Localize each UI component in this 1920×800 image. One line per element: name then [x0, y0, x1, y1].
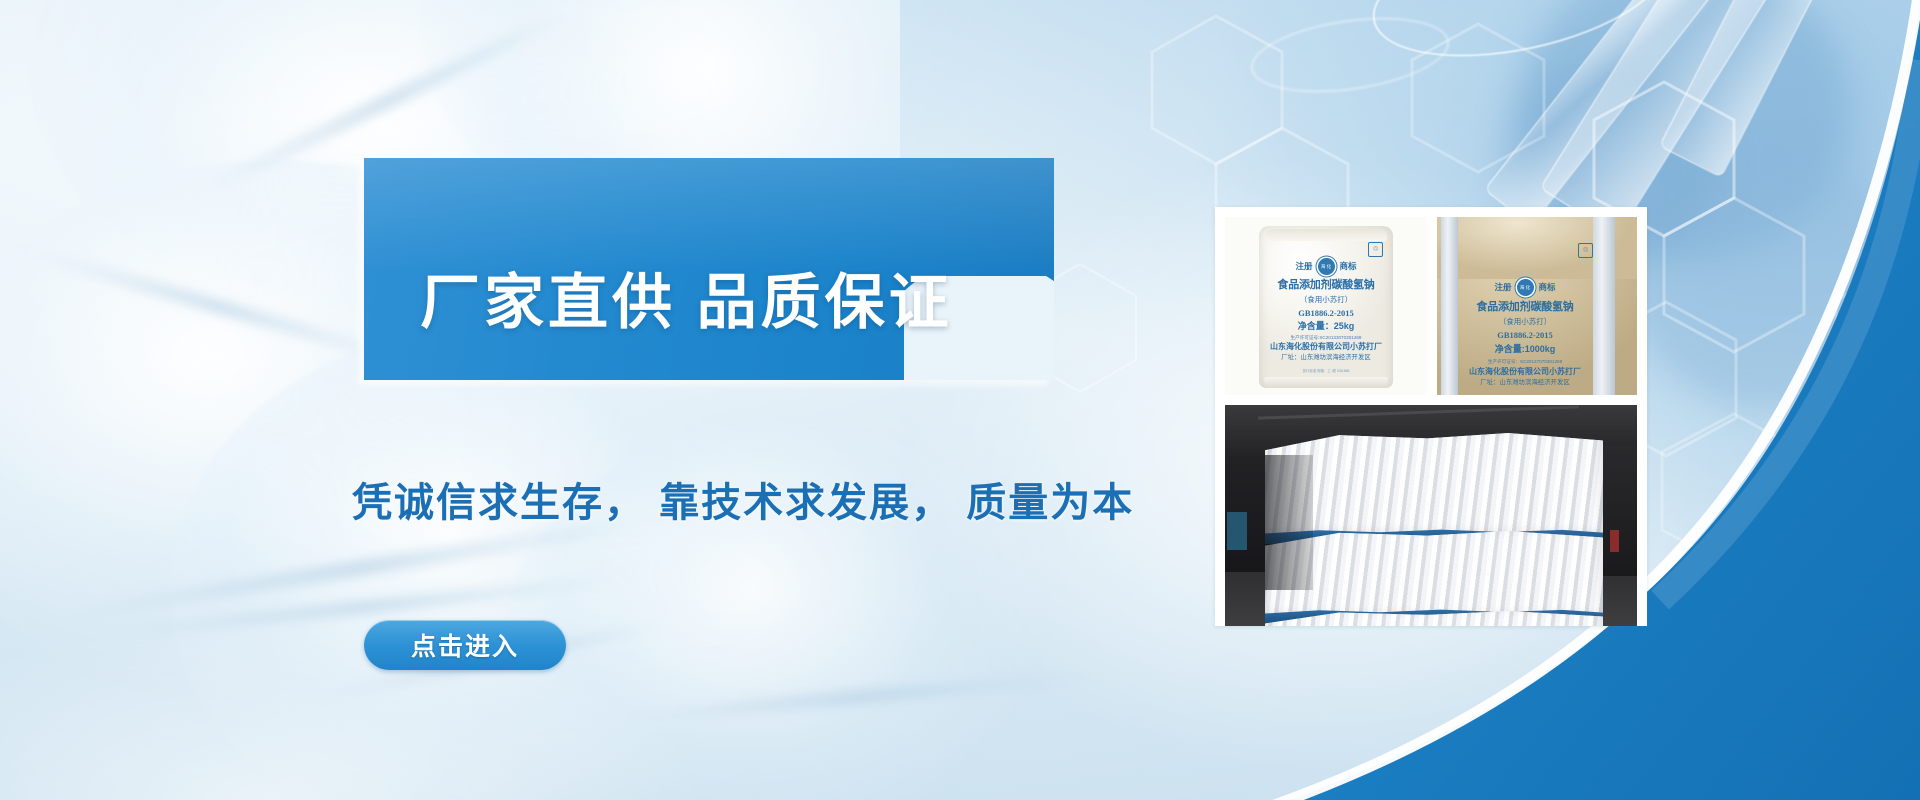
petri-dish-icon — [1246, 6, 1454, 103]
recycle-icon: ♲ — [1368, 242, 1383, 257]
enter-site-button[interactable]: 点击进入 — [364, 620, 566, 670]
page-title: 厂家直供 品质保证 — [420, 254, 953, 341]
bag-factory-address: 厂址：山东潍坊滨海经济开发区 — [1259, 354, 1393, 362]
bag-net-weight: 净含量:1000kg — [1461, 344, 1589, 356]
bag-license-number: 生产许可证号:SC20133070301269 — [1259, 335, 1393, 341]
promo-banner: 厂家直供 品质保证 凭诚信求生存， 靠技术求发展， 质量为本 点击进入 ♲ 注册… — [0, 0, 1920, 800]
bag-factory-address: 厂址：山东潍坊滨海经济开发区 — [1461, 379, 1589, 387]
bag-trademark-label: 商标 — [1340, 261, 1357, 271]
bag-product-name: 食品添加剂碳酸氢钠 — [1259, 279, 1393, 292]
brand-seal-icon: 海 化 — [1517, 279, 1534, 296]
background-haze — [0, 540, 900, 800]
bag-standard-code: GB1886.2-2015 — [1259, 308, 1393, 318]
brand-seal-icon: 海 化 — [1318, 258, 1335, 275]
photo-white-bag-25kg[interactable]: ♲ 注册 海 化 商标 食品添加剂碳酸氢钠 （食用小苏打） GB1886.2-2… — [1225, 217, 1427, 395]
bag-product-alias: （食用小苏打） — [1461, 317, 1589, 327]
bag-stack — [1265, 433, 1603, 590]
bag-product-name: 食品添加剂碳酸氢钠 — [1461, 300, 1589, 314]
banner-subtitle: 凭诚信求生存， 靠技术求发展， 质量为本 — [352, 470, 1134, 528]
bag-registered-label: 注册 — [1494, 282, 1511, 293]
bag-company-name: 山东海化股份有限公司小苏打厂 — [1259, 342, 1393, 352]
bag-strap — [1441, 217, 1458, 395]
bag-footer-note: 执行标准 规格：工 Ⅰ类 GB1886 — [1259, 369, 1393, 373]
bag-standard-code: GB1886.2-2015 — [1461, 330, 1589, 341]
enter-site-button-label: 点击进入 — [411, 627, 519, 663]
bag-strap — [1593, 217, 1615, 395]
warehouse-scene — [1225, 405, 1637, 626]
white-woven-bag: ♲ 注册 海 化 商标 食品添加剂碳酸氢钠 （食用小苏打） GB1886.2-2… — [1259, 226, 1393, 388]
kraft-tote-bag: ♲ 注册 海 化 商标 食品添加剂碳酸氢钠 （食用小苏打） GB1886.2-2… — [1437, 217, 1637, 395]
bag-registered-label: 注册 — [1295, 261, 1312, 271]
bag-license-number: 生产许可证号：SC20137070301269 — [1461, 359, 1589, 365]
bag-trademark-label: 商标 — [1539, 282, 1556, 293]
photo-kraft-tote-1000kg[interactable]: ♲ 注册 海 化 商标 食品添加剂碳酸氢钠 （食用小苏打） GB1886.2-2… — [1437, 217, 1637, 395]
bag-company-name: 山东海化股份有限公司小苏打厂 — [1461, 367, 1589, 377]
product-photo-collage[interactable]: ♲ 注册 海 化 商标 食品添加剂碳酸氢钠 （食用小苏打） GB1886.2-2… — [1215, 207, 1647, 626]
photo-warehouse-stacked-bags[interactable] — [1225, 405, 1637, 626]
headline-plaque: 厂家直供 品质保证 — [364, 158, 1054, 380]
bag-product-alias: （食用小苏打） — [1259, 295, 1393, 304]
recycle-icon: ♲ — [1578, 243, 1593, 258]
bag-net-weight: 净含量：25kg — [1259, 321, 1393, 332]
